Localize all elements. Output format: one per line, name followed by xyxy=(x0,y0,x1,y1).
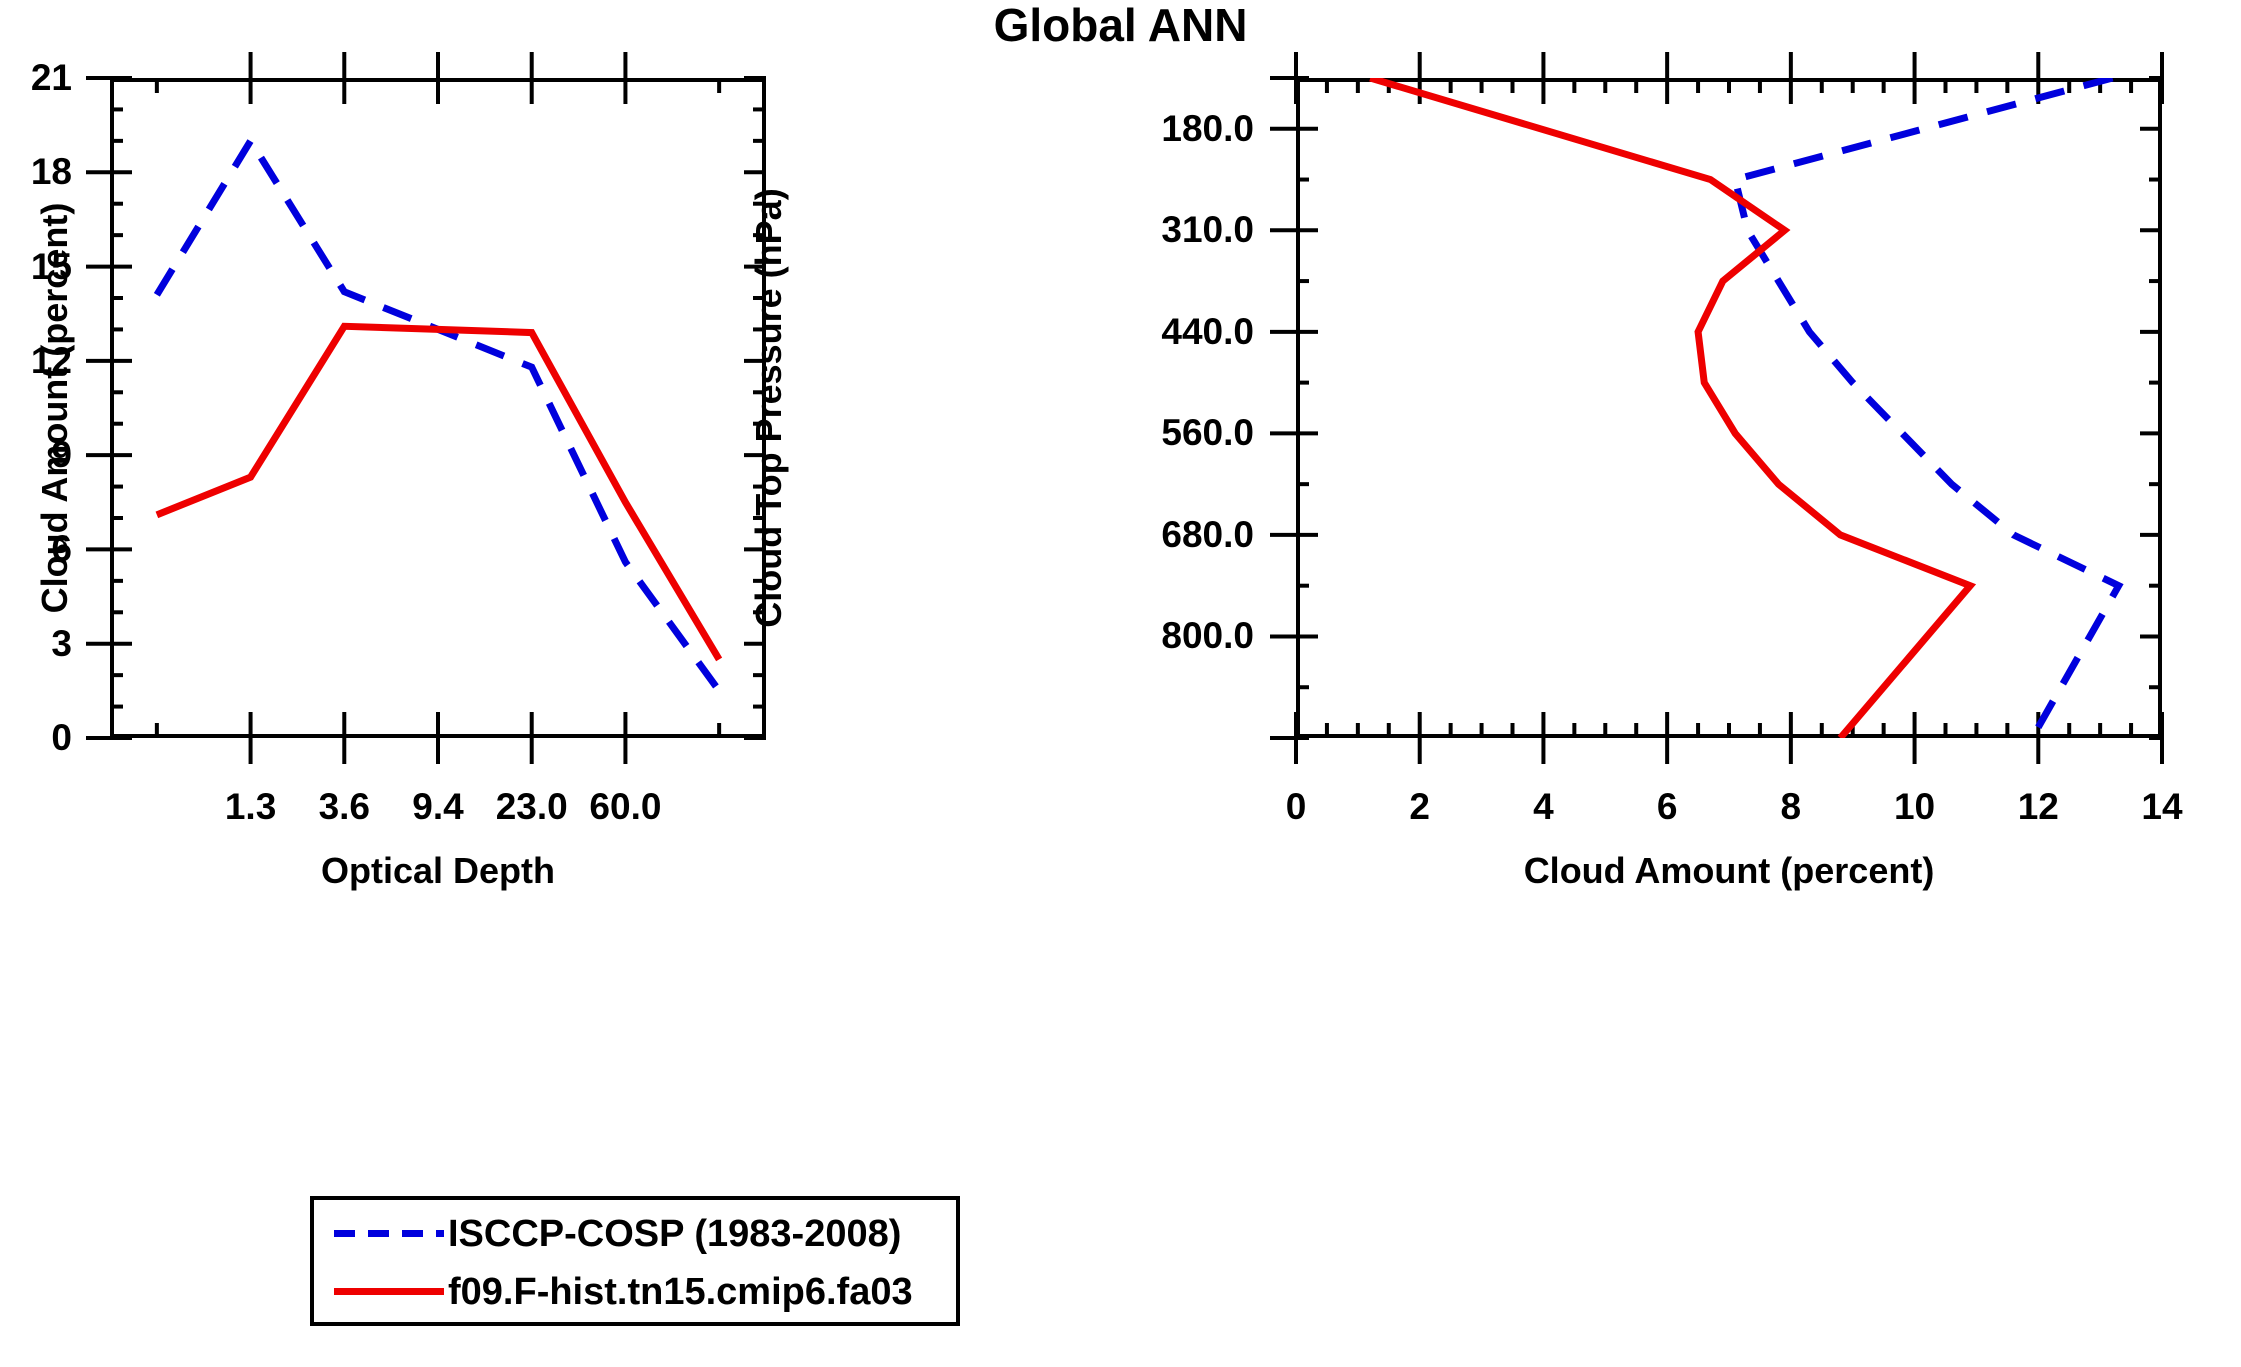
left-x-axis-title: Optical Depth xyxy=(321,850,555,892)
solid-line-sample xyxy=(334,1288,444,1295)
right-data-lines xyxy=(1000,60,2241,1240)
figure-root: Global ANN 036912151821 1.33.69.423.060.… xyxy=(0,0,2241,1367)
dashed-line-sample xyxy=(334,1230,444,1237)
right-panel: 180.0310.0440.0560.0680.0800.0 024681012… xyxy=(1000,60,2241,1240)
page-title: Global ANN xyxy=(0,0,2241,52)
legend-box: ISCCP-COSP (1983-2008) f09.F-hist.tn15.c… xyxy=(310,1196,960,1326)
left-y-axis-title: Cloud Amount (percent) xyxy=(34,203,76,614)
legend-item-obs: ISCCP-COSP (1983-2008) xyxy=(314,1206,956,1262)
left-data-lines xyxy=(0,60,1000,1240)
left-panel: 036912151821 1.33.69.423.060.0 Optical D… xyxy=(0,60,1000,1240)
left-series-obs xyxy=(157,141,719,691)
left-series-model xyxy=(157,326,719,659)
legend-label-model: f09.F-hist.tn15.cmip6.fa03 xyxy=(448,1264,913,1320)
right-x-axis-title: Cloud Amount (percent) xyxy=(1524,850,1935,892)
legend-label-obs: ISCCP-COSP (1983-2008) xyxy=(448,1206,901,1262)
legend-item-model: f09.F-hist.tn15.cmip6.fa03 xyxy=(314,1264,956,1320)
right-y-axis-title: Cloud Top Pressure (hPa) xyxy=(748,188,790,627)
